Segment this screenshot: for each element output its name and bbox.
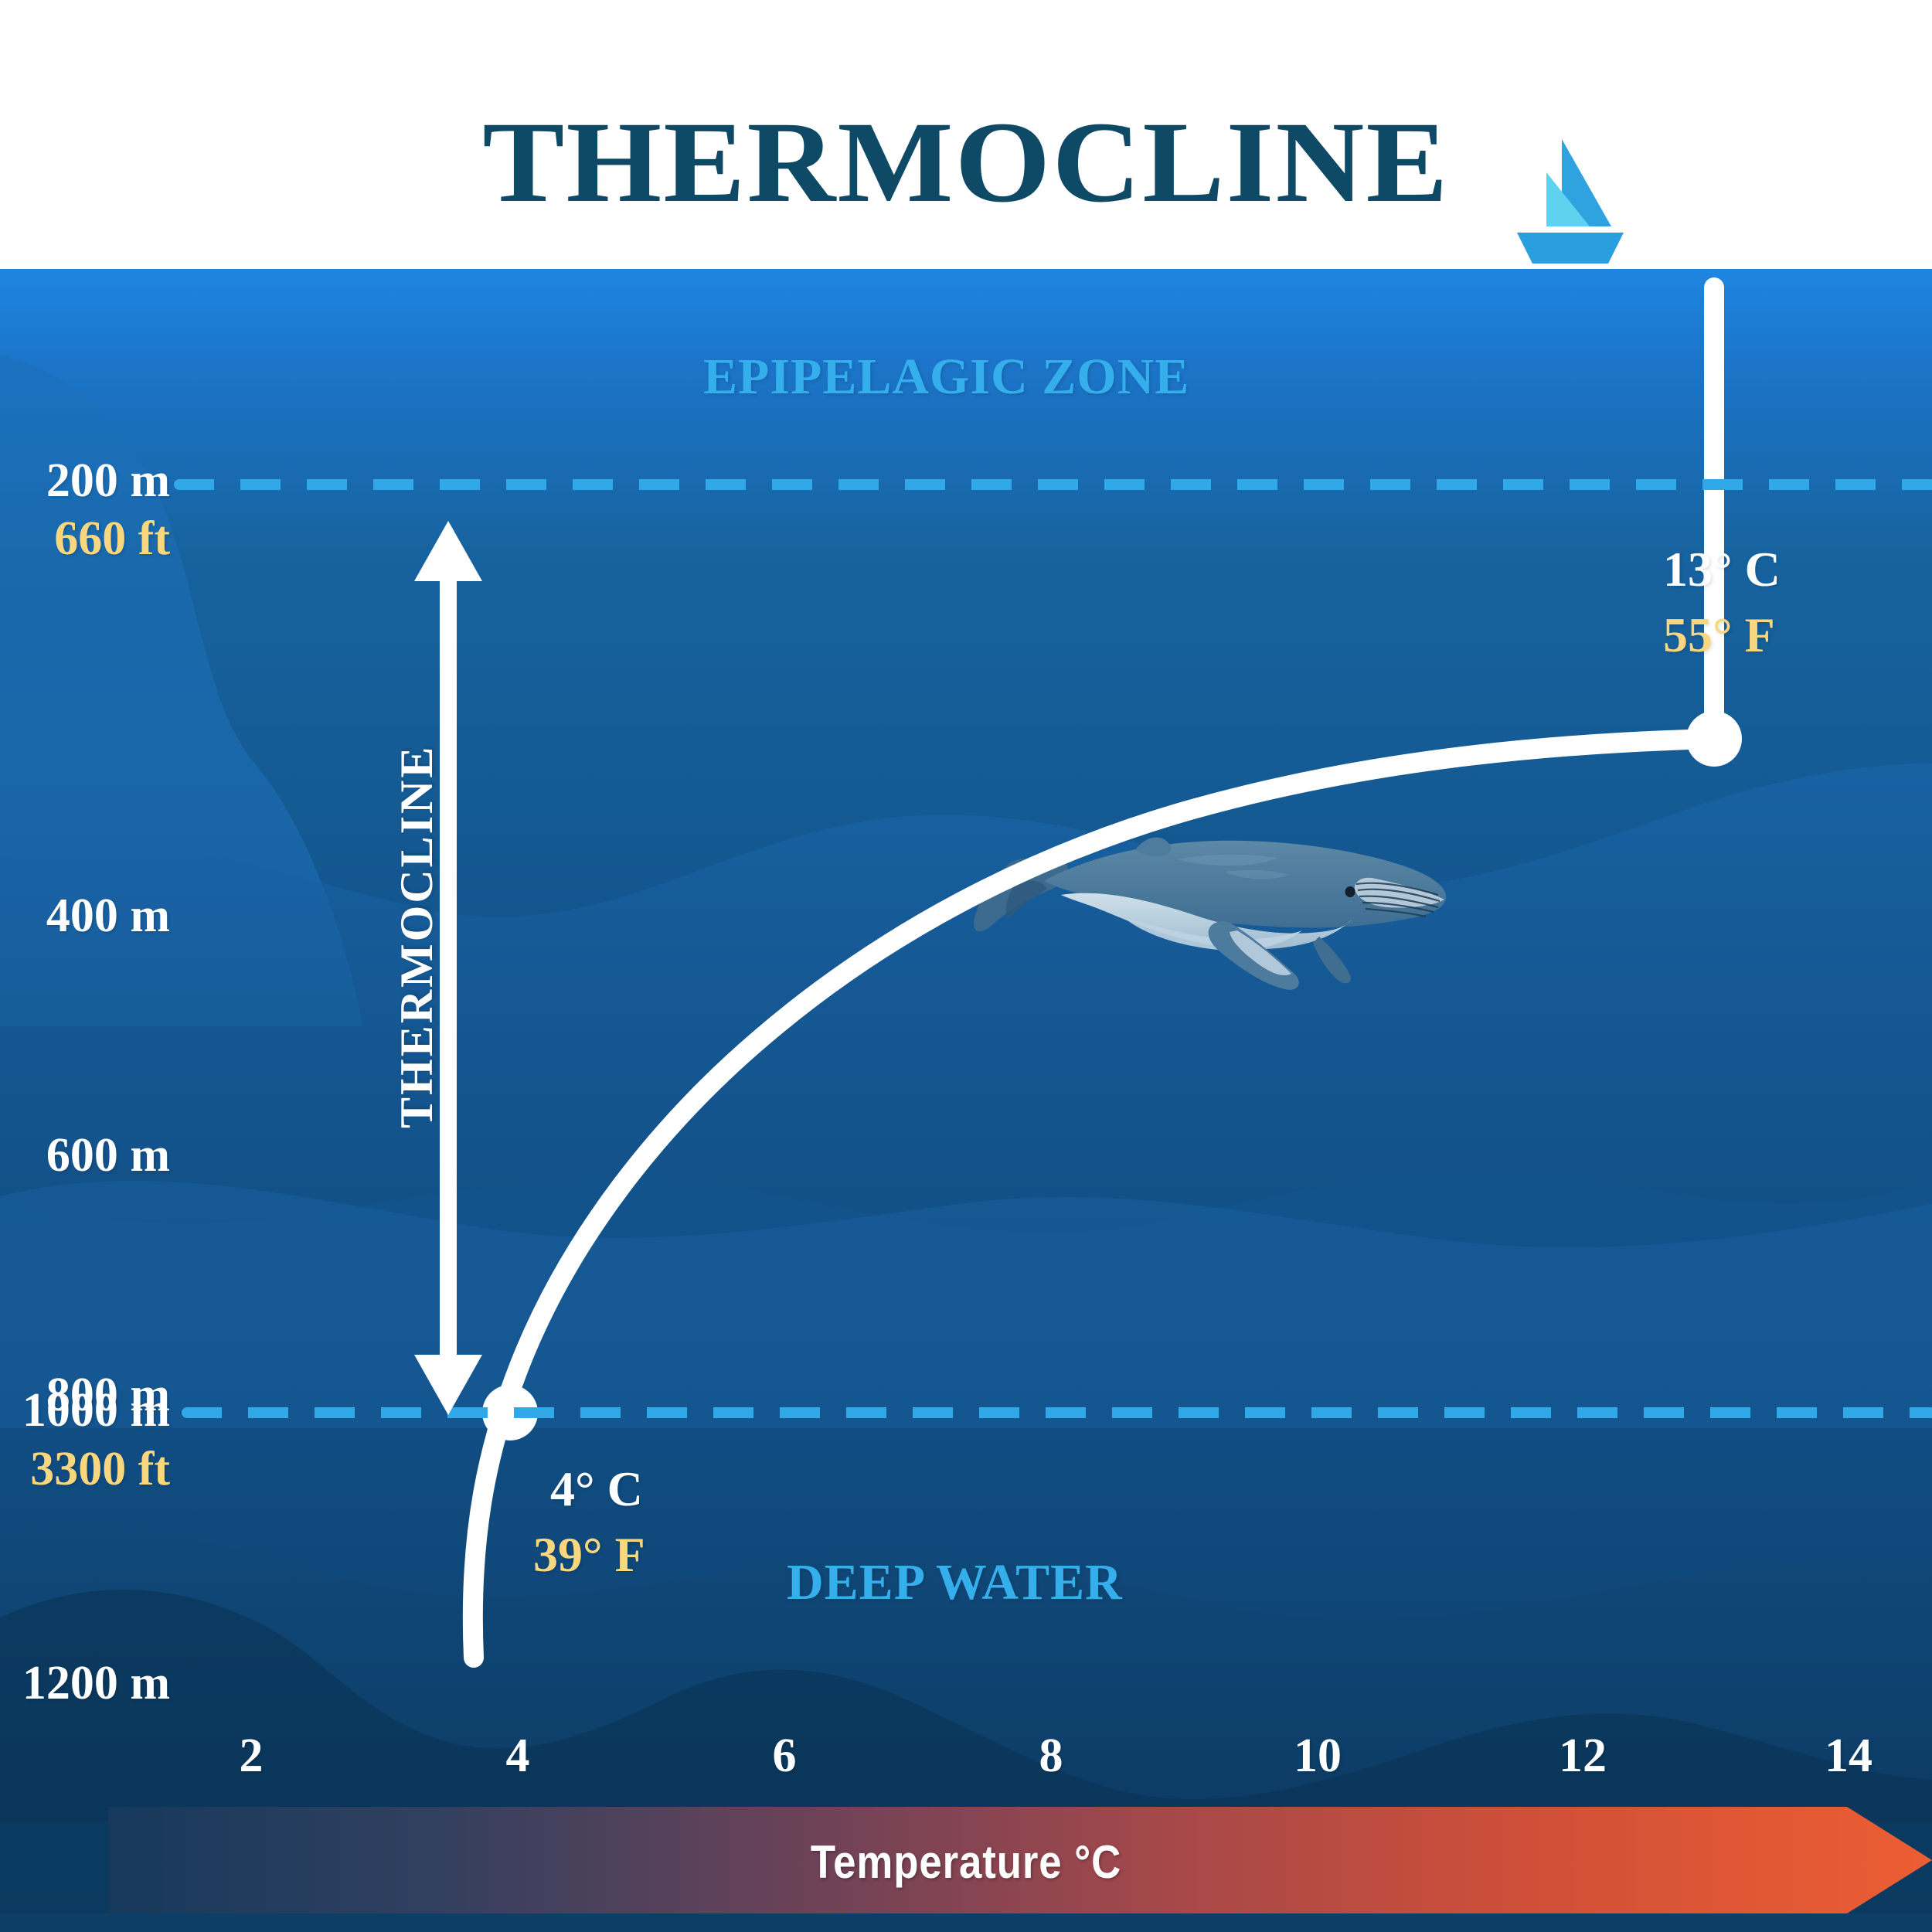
depth-label-600m: 600 m — [0, 1128, 170, 1183]
thermocline-band-label: THERMOCLINE — [390, 745, 444, 1128]
depth-label-1200m: 1200 m — [0, 1656, 170, 1711]
page-title: THERMOCLINE — [0, 104, 1932, 220]
callout-13c-fahrenheit: 55° F — [1663, 607, 1775, 664]
xtick-12: 12 — [1529, 1729, 1637, 1784]
header-band: THERMOCLINE — [0, 0, 1932, 269]
depth-rule-200m — [174, 479, 1932, 490]
xtick-2: 2 — [197, 1729, 305, 1784]
callout-4c-celsius: 4° C — [550, 1461, 643, 1518]
ocean-body — [0, 269, 1932, 1932]
depth-label-660ft: 660 ft — [0, 512, 170, 566]
zone-label-epipelagic: EPIPELAGIC ZONE — [703, 348, 1189, 406]
sailboat-icon — [1495, 135, 1627, 270]
xtick-6: 6 — [730, 1729, 838, 1784]
footer-strip — [0, 1913, 1932, 1932]
callout-13c-celsius: 13° C — [1663, 541, 1781, 598]
xtick-8: 8 — [997, 1729, 1105, 1784]
depth-label-200m: 200 m — [0, 454, 170, 509]
callout-4c-fahrenheit: 39° F — [533, 1526, 645, 1583]
deep-marker-layer — [0, 269, 1932, 1932]
temperature-axis-label: Temperature °C — [116, 1835, 1816, 1889]
xtick-14: 14 — [1794, 1729, 1903, 1784]
zone-label-deep-water: DEEP WATER — [787, 1553, 1123, 1612]
thermocline-infographic: THERMOCLINE 0 m 200 m 660 ft 400 m 600 m… — [0, 0, 1932, 1932]
xtick-4: 4 — [464, 1729, 572, 1784]
depth-label-1000m: 1000 m — [0, 1383, 170, 1438]
depth-label-400m: 400 m — [0, 889, 170, 944]
xtick-10: 10 — [1264, 1729, 1372, 1784]
depth-label-3300ft: 3300 ft — [0, 1442, 170, 1497]
